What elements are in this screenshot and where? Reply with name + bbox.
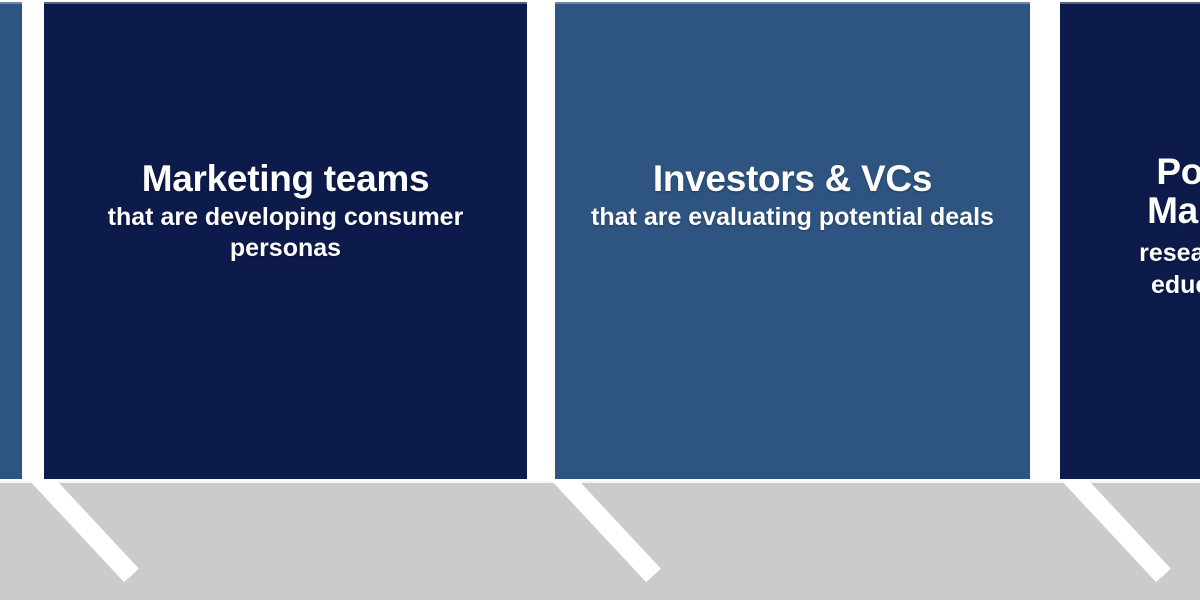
card-subtitle: researching education	[1092, 238, 1200, 301]
pedestal-divider-3	[1061, 481, 1171, 582]
audience-card-policy-makers[interactable]: Policy Makers researching education	[1060, 2, 1200, 479]
audience-card-left-partial[interactable]	[0, 2, 22, 479]
card-title: Policy Makers	[1092, 152, 1200, 230]
card-text-block: Investors & VCs that are evaluating pote…	[555, 159, 1030, 233]
pedestal-divider-1	[29, 481, 139, 582]
pedestal-base-band	[0, 481, 1200, 600]
card-text-block: Policy Makers researching education	[1060, 152, 1200, 301]
card-title: Marketing teams	[58, 159, 513, 198]
slide-canvas: Marketing teams that are developing cons…	[0, 0, 1200, 600]
card-subtitle: that are evaluating potential deals	[569, 202, 1016, 233]
card-title: Investors & VCs	[569, 159, 1016, 198]
pedestal-top-highlight	[0, 481, 1200, 483]
pedestal-divider-2	[551, 481, 661, 582]
card-text-block: Marketing teams that are developing cons…	[44, 159, 527, 265]
audience-card-marketing-teams[interactable]: Marketing teams that are developing cons…	[44, 2, 527, 479]
audience-card-investors-vcs[interactable]: Investors & VCs that are evaluating pote…	[555, 2, 1030, 479]
card-subtitle: that are developing consumer personas	[58, 202, 513, 265]
